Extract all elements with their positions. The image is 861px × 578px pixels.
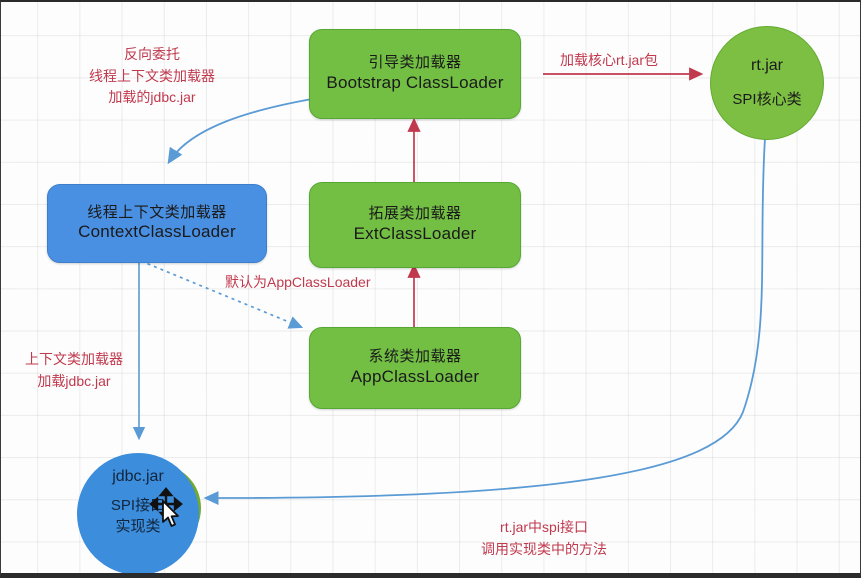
context-label-cn: 线程上下文类加载器 <box>87 204 227 222</box>
node-ext-classloader[interactable]: 拓展类加载器 ExtClassLoader <box>309 182 521 268</box>
note-spi-invoke: rt.jar中spi接口 调用实现类中的方法 <box>481 517 607 560</box>
context-label-en: ContextClassLoader <box>78 222 236 243</box>
note-context-loads-jdbc: 上下文类加载器 加载jdbc.jar <box>25 349 123 392</box>
note-reverse-delegation: 反向委托 线程上下文类加载器 加载的jdbc.jar <box>89 44 215 109</box>
node-jdbc-jar-circle[interactable]: jdbc.jar SPI接口 实现类 <box>77 453 199 575</box>
jdbc-label-cn1: SPI接口 <box>111 496 165 515</box>
node-bootstrap-classloader[interactable]: 引导类加载器 Bootstrap ClassLoader <box>309 29 521 119</box>
note-reverse-delegation-line2: 线程上下文类加载器 <box>89 66 215 88</box>
bootstrap-label-en: Bootstrap ClassLoader <box>326 73 503 94</box>
note-default-app-line1: 默认为AppClassLoader <box>225 272 371 294</box>
note-default-appclassloader: 默认为AppClassLoader <box>225 272 371 294</box>
node-context-classloader[interactable]: 线程上下文类加载器 ContextClassLoader <box>47 184 267 263</box>
jdbc-label-en: jdbc.jar <box>112 467 164 487</box>
arrow-default-appclassloader <box>141 261 301 327</box>
jdbc-label-cn2: 实现类 <box>115 517 160 536</box>
ext-label-cn: 拓展类加载器 <box>368 205 461 223</box>
note-context-load-line1: 上下文类加载器 <box>25 349 123 371</box>
ext-label-en: ExtClassLoader <box>354 224 477 245</box>
node-app-classloader[interactable]: 系统类加载器 AppClassLoader <box>309 327 521 409</box>
diagram-canvas: 引导类加载器 Bootstrap ClassLoader 拓展类加载器 ExtC… <box>0 0 861 578</box>
note-spi-invoke-line2: 调用实现类中的方法 <box>481 539 607 561</box>
rtjar-label-cn: SPI核心类 <box>732 88 801 109</box>
app-label-en: AppClassLoader <box>351 367 480 388</box>
bootstrap-label-cn: 引导类加载器 <box>368 54 461 72</box>
app-label-cn: 系统类加载器 <box>368 348 461 366</box>
note-context-load-line2: 加载jdbc.jar <box>25 371 123 393</box>
note-load-core-rtjar: 加载核心rt.jar包 <box>560 50 658 72</box>
node-rtjar-circle[interactable]: rt.jar SPI核心类 <box>710 26 824 140</box>
note-reverse-delegation-line1: 反向委托 <box>89 44 215 66</box>
note-load-core-line1: 加载核心rt.jar包 <box>560 50 658 72</box>
note-reverse-delegation-line3: 加载的jdbc.jar <box>89 87 215 109</box>
rtjar-label-en: rt.jar <box>751 57 783 75</box>
note-spi-invoke-line1: rt.jar中spi接口 <box>481 517 607 539</box>
